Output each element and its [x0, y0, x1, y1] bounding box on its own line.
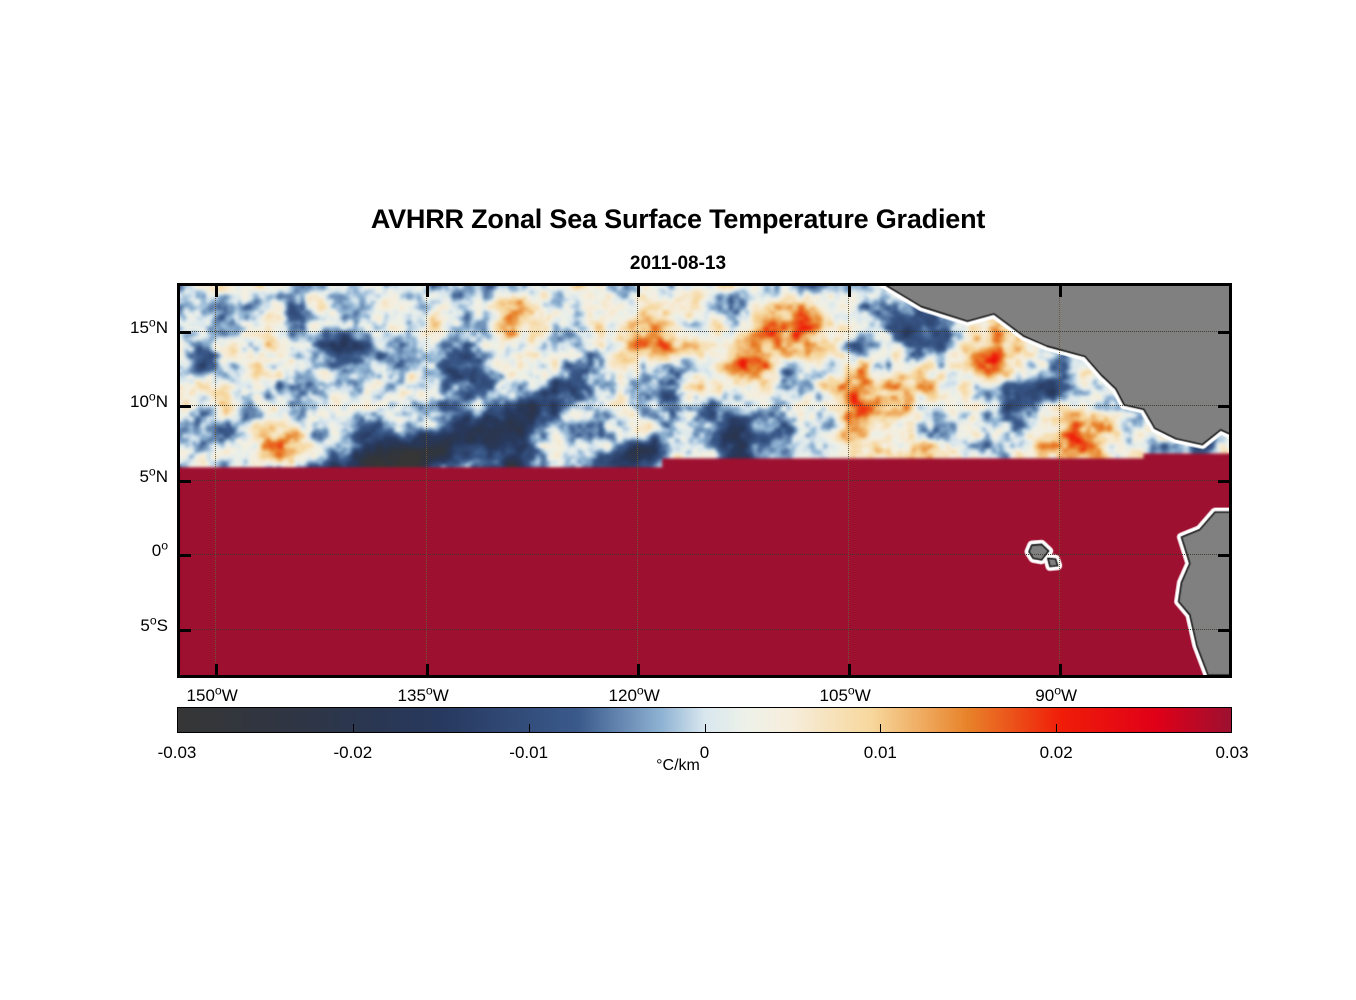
gridline-lon-120°W: [637, 286, 638, 675]
y-tick-mark: [180, 405, 191, 408]
x-tick-mark: [1059, 664, 1062, 675]
y-tick-mark: [180, 331, 191, 334]
map-axes: [177, 283, 1232, 678]
gridline-lat-5°S: [180, 629, 1229, 630]
y-tick-mark: [180, 480, 191, 483]
figure-title: AVHRR Zonal Sea Surface Temperature Grad…: [0, 204, 1356, 235]
gridline-lat-15°N: [180, 331, 1229, 332]
figure-canvas: AVHRR Zonal Sea Surface Temperature Grad…: [0, 0, 1356, 1000]
colorbar-tick-mark: [880, 724, 881, 733]
y-tick-mark: [1218, 629, 1229, 632]
gridline-lon-150°W: [215, 286, 216, 675]
colorbar-tick-mark: [529, 724, 530, 733]
colorbar-tick-mark: [1056, 724, 1057, 733]
x-tick-label: 105oW: [820, 686, 871, 706]
x-tick-mark: [637, 286, 640, 297]
y-tick-mark: [1218, 405, 1229, 408]
x-tick-mark: [1059, 286, 1062, 297]
colorbar-tick-mark: [353, 724, 354, 733]
y-tick-label: 0o: [60, 541, 168, 561]
x-tick-mark: [215, 286, 218, 297]
gridline-lon-135°W: [426, 286, 427, 675]
x-tick-label: 150oW: [187, 686, 238, 706]
gridline-lat-5°N: [180, 480, 1229, 481]
x-tick-label: 90oW: [1035, 686, 1077, 706]
x-tick-mark: [426, 286, 429, 297]
x-tick-mark: [215, 664, 218, 675]
x-tick-label: 120oW: [609, 686, 660, 706]
y-tick-label: 10oN: [60, 392, 168, 412]
gridline-lon-90°W: [1059, 286, 1060, 675]
figure-subtitle: 2011-08-13: [0, 253, 1356, 275]
gridline-lat-0°: [180, 554, 1229, 555]
y-tick-mark: [180, 629, 191, 632]
x-tick-mark: [637, 664, 640, 675]
y-tick-label: 5oN: [60, 467, 168, 487]
y-tick-mark: [1218, 554, 1229, 557]
y-tick-mark: [180, 554, 191, 557]
y-tick-label: 5oS: [60, 616, 168, 636]
colorbar-unit-label: °C/km: [0, 757, 1356, 775]
y-tick-mark: [1218, 331, 1229, 334]
gridline-lat-10°N: [180, 405, 1229, 406]
x-tick-mark: [848, 286, 851, 297]
gridline-lon-105°W: [848, 286, 849, 675]
x-tick-mark: [426, 664, 429, 675]
y-tick-label: 15oN: [60, 318, 168, 338]
colorbar-tick-mark: [705, 724, 706, 733]
x-tick-mark: [848, 664, 851, 675]
y-tick-mark: [1218, 480, 1229, 483]
x-tick-label: 135oW: [398, 686, 449, 706]
